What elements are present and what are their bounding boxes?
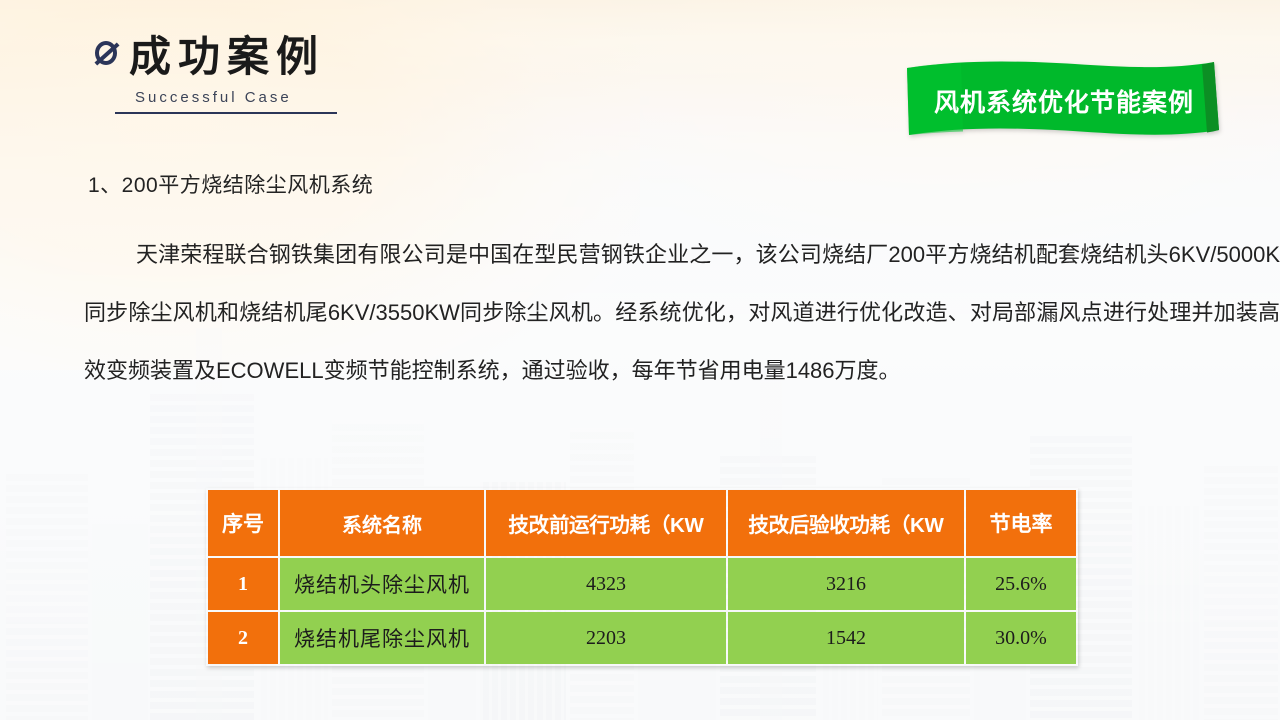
cell-system-name: 烧结机头除尘风机 (280, 558, 484, 610)
cell-system-name: 烧结机尾除尘风机 (280, 612, 484, 664)
page-subtitle: Successful Case (135, 89, 337, 106)
section-banner: 风机系统优化节能案例 (905, 58, 1223, 140)
diameter-slash-icon (93, 38, 123, 68)
cell-saving-rate: 25.6% (966, 558, 1076, 610)
table-row: 2 烧结机尾除尘风机 2203 1542 30.0% (208, 612, 1076, 664)
cell-index: 2 (208, 612, 278, 664)
cell-saving-rate: 30.0% (966, 612, 1076, 664)
page-title-block: 成功案例 Successful Case (93, 36, 337, 114)
cell-power-before: 4323 (486, 558, 726, 610)
cell-power-after: 1542 (728, 612, 964, 664)
column-header-system-name: 系统名称 (280, 490, 484, 556)
table-row: 1 烧结机头除尘风机 4323 3216 25.6% (208, 558, 1076, 610)
slide-canvas: 成功案例 Successful Case 风机系统优化节能案例 1、200平方烧… (0, 0, 1280, 720)
table-header-row: 序号 系统名称 技改前运行功耗（KW 技改后验收功耗（KW 节电率 (208, 490, 1076, 556)
column-header-saving-rate: 节电率 (966, 490, 1076, 556)
column-header-power-before: 技改前运行功耗（KW (486, 490, 726, 556)
column-header-power-after: 技改后验收功耗（KW (728, 490, 964, 556)
results-table: 序号 系统名称 技改前运行功耗（KW 技改后验收功耗（KW 节电率 1 烧结机头… (206, 488, 1078, 666)
body-paragraph: 天津荣程联合钢铁集团有限公司是中国在型民营钢铁企业之一，该公司烧结厂200平方烧… (84, 226, 1280, 400)
page-title: 成功案例 (129, 36, 325, 78)
column-header-index: 序号 (208, 490, 278, 556)
section-heading: 1、200平方烧结除尘风机系统 (88, 169, 373, 199)
cell-power-after: 3216 (728, 558, 964, 610)
cell-index: 1 (208, 558, 278, 610)
cell-power-before: 2203 (486, 612, 726, 664)
title-underline (115, 112, 337, 114)
section-banner-label: 风机系统优化节能案例 (905, 58, 1223, 140)
results-table-wrapper: 序号 系统名称 技改前运行功耗（KW 技改后验收功耗（KW 节电率 1 烧结机头… (206, 488, 1078, 666)
